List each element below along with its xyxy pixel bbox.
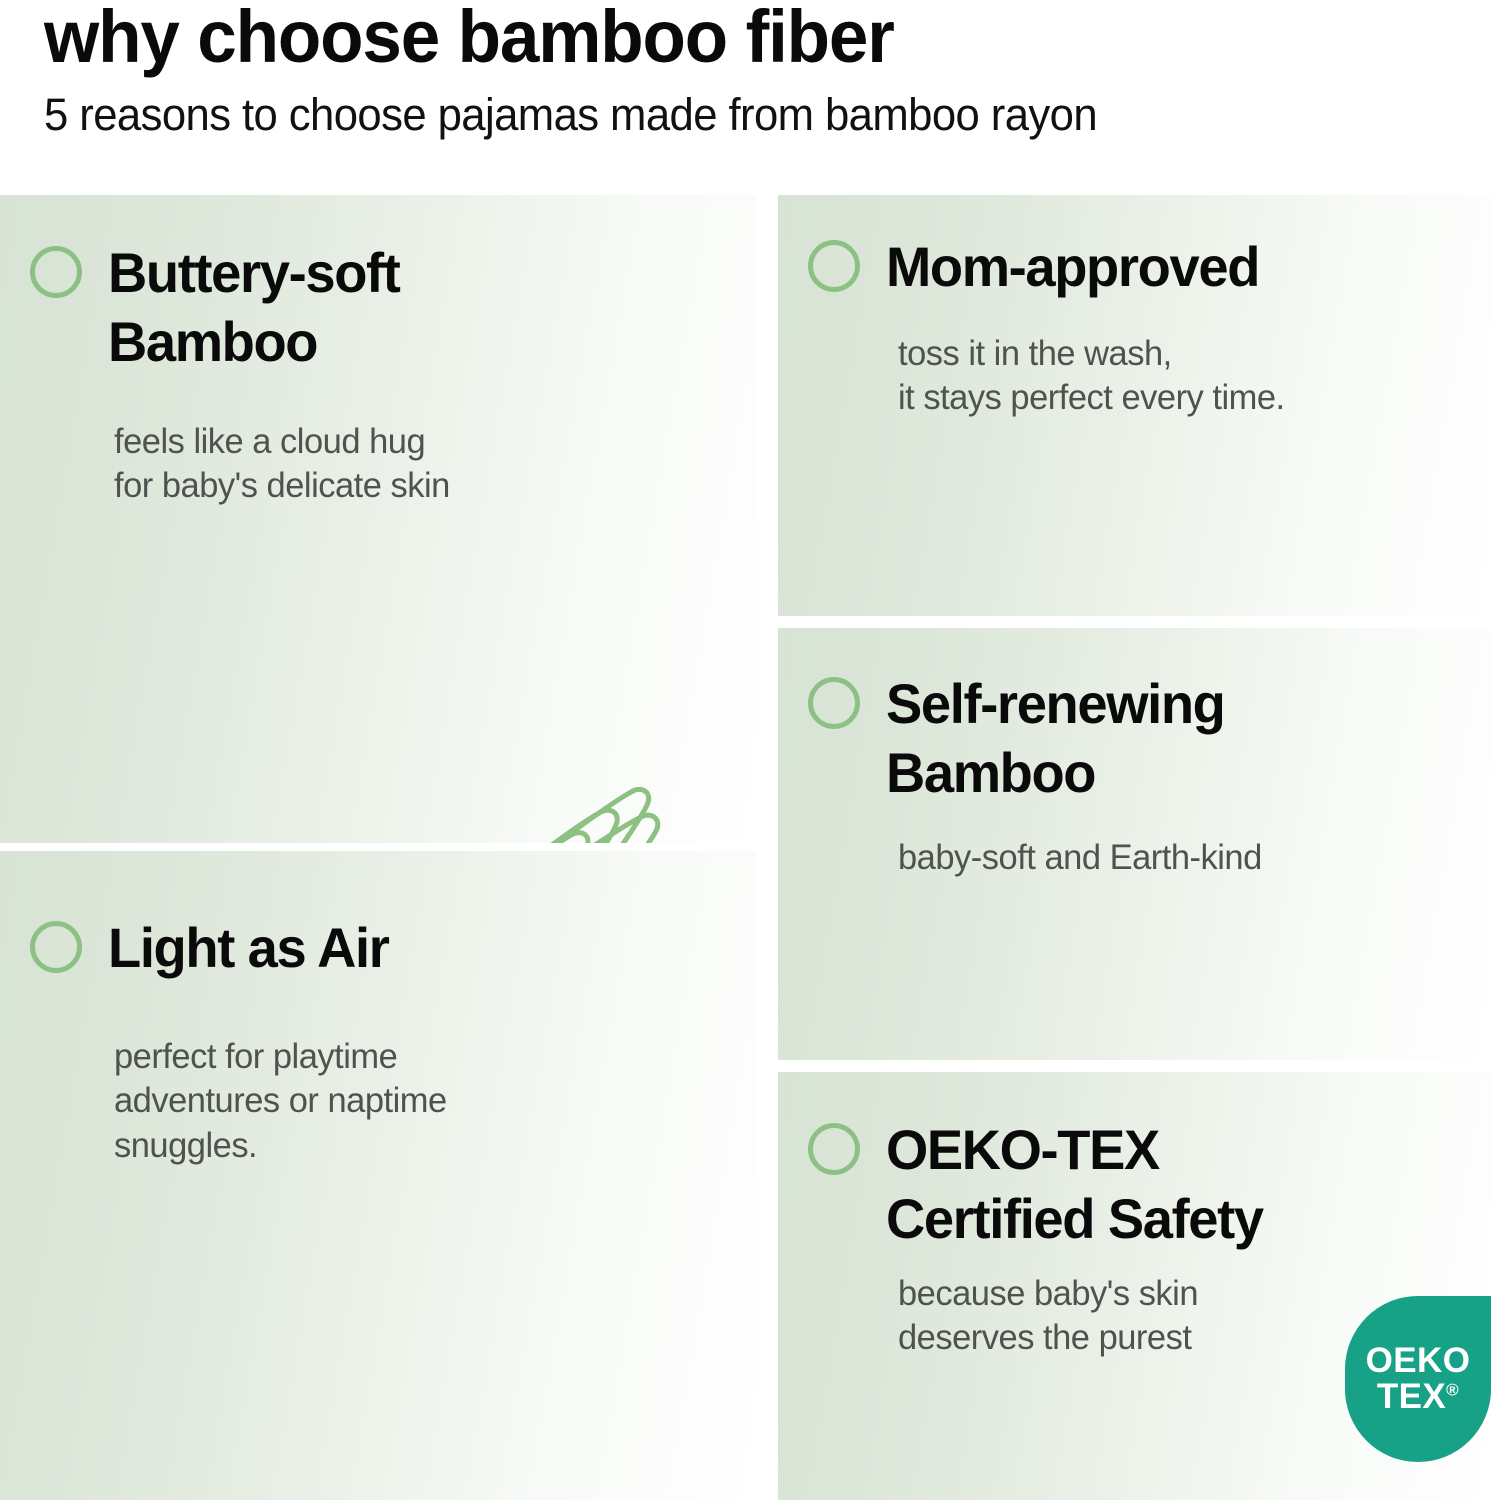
soft-touch-hand-icon <box>485 787 735 843</box>
page-title: why choose bamboo fiber <box>44 0 894 79</box>
bullet-circle-icon <box>808 677 860 729</box>
card-description: perfect for playtimeadventures or naptim… <box>114 1035 447 1168</box>
badge-line-two: TEX® <box>1377 1379 1459 1415</box>
bullet-circle-icon <box>808 240 860 292</box>
card-heading-row: Mom-approved <box>808 233 1271 302</box>
page-header: why choose bamboo fiber 5 reasons to cho… <box>0 0 1491 180</box>
card-description: because baby's skindeserves the purest <box>898 1272 1198 1361</box>
card-heading-row: Self-renewingBamboo <box>808 670 1235 808</box>
card-heading-row: OEKO-TEXCertified Safety <box>808 1116 1274 1254</box>
card-title: Light as Air <box>108 914 388 983</box>
page-subtitle: 5 reasons to choose pajamas made from ba… <box>44 88 1097 142</box>
feature-card-self-renewing-bamboo: Self-renewingBamboo baby-soft and Earth-… <box>778 628 1491 1060</box>
card-description: feels like a cloud hugfor baby's delicat… <box>114 420 450 509</box>
card-title: OEKO-TEXCertified Safety <box>886 1116 1263 1254</box>
badge-line-one: OEKO <box>1366 1343 1471 1379</box>
card-description: baby-soft and Earth-kind <box>898 836 1262 880</box>
bullet-circle-icon <box>30 921 82 973</box>
registered-mark-icon: ® <box>1446 1380 1459 1399</box>
card-heading-row: Buttery-softBamboo <box>30 239 409 377</box>
feature-card-mom-approved: Mom-approved toss it in the wash,it stay… <box>778 195 1491 616</box>
card-title: Buttery-softBamboo <box>108 239 400 377</box>
bullet-circle-icon <box>30 246 82 298</box>
card-title: Mom-approved <box>886 233 1259 302</box>
card-title: Self-renewingBamboo <box>886 670 1225 808</box>
card-description: toss it in the wash,it stays perfect eve… <box>898 332 1285 421</box>
feature-card-buttery-soft-bamboo: Buttery-softBamboo feels like a cloud hu… <box>0 195 756 843</box>
card-heading-row: Light as Air <box>30 914 397 983</box>
oeko-tex-badge: OEKO TEX® <box>1345 1296 1491 1462</box>
badge-line-two-text: TEX <box>1377 1377 1446 1416</box>
bullet-circle-icon <box>808 1123 860 1175</box>
feature-card-light-as-air: Light as Air perfect for playtimeadventu… <box>0 851 756 1500</box>
